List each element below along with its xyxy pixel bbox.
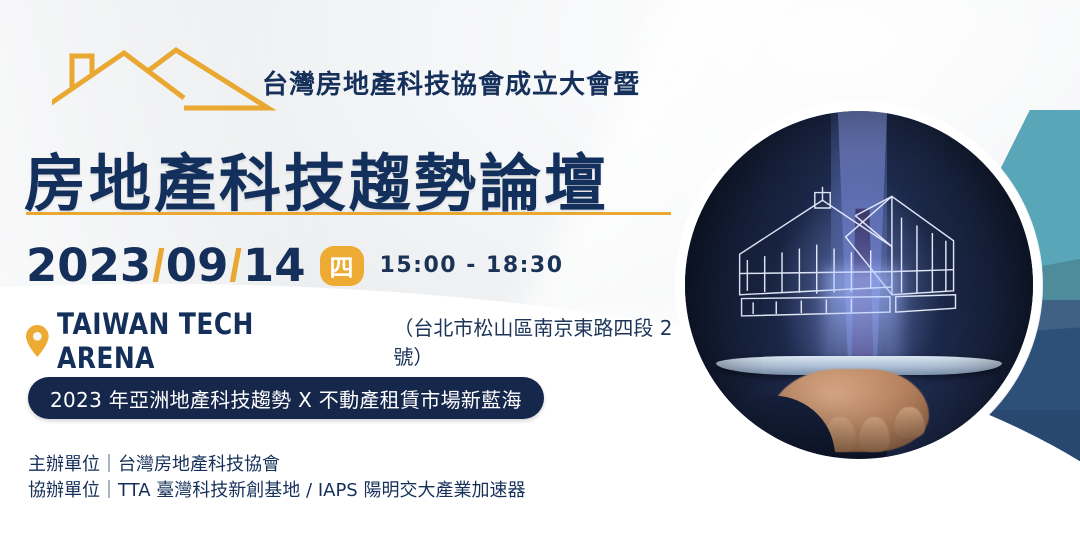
photo-vignette xyxy=(685,111,1033,459)
organizer-line-host: 主辦單位｜台灣房地產科技協會 xyxy=(28,452,525,478)
event-time-range: 15:00 - 18:30 xyxy=(380,253,564,278)
topic-badge: 2023 年亞洲地產科技趨勢 X 不動產租賃市場新藍海 xyxy=(28,377,544,419)
hero-photo xyxy=(685,111,1033,459)
organizer-block: 主辦單位｜台灣房地產科技協會 協辦單位｜TTA 臺灣科技新創基地 / IAPS … xyxy=(28,452,525,504)
date-month: 09 xyxy=(166,243,229,288)
venue-address: （台北市松山區南京東路四段 2 號） xyxy=(393,312,700,370)
house-roof-outline-icon xyxy=(52,38,277,118)
weekday-badge: 四 xyxy=(320,246,364,286)
date-day: 14 xyxy=(243,243,306,288)
event-banner: 台灣房地產科技協會成立大會暨 房地產科技趨勢論壇 2023 / 09 / 14 … xyxy=(0,0,1080,540)
date-separator: / xyxy=(228,243,243,288)
map-pin-icon xyxy=(26,324,49,358)
content-column: 台灣房地產科技協會成立大會暨 房地產科技趨勢論壇 2023 / 09 / 14 … xyxy=(0,0,700,540)
date-separator: / xyxy=(151,243,166,288)
title-underline xyxy=(26,212,671,215)
date-year: 2023 xyxy=(26,243,151,288)
hero-photo-ring xyxy=(676,102,1042,468)
event-pretitle: 台灣房地產科技協會成立大會暨 xyxy=(262,64,640,101)
venue-name: TAIWAN TECH ARENA xyxy=(57,307,343,375)
event-venue-row: TAIWAN TECH ARENA （台北市松山區南京東路四段 2 號） xyxy=(26,307,700,375)
event-date-row: 2023 / 09 / 14 四 15:00 - 18:30 xyxy=(26,243,564,288)
organizer-line-coorganizer: 協辦單位｜TTA 臺灣科技新創基地 / IAPS 陽明交大產業加速器 xyxy=(28,478,525,504)
page-title: 房地產科技趨勢論壇 xyxy=(24,133,609,223)
